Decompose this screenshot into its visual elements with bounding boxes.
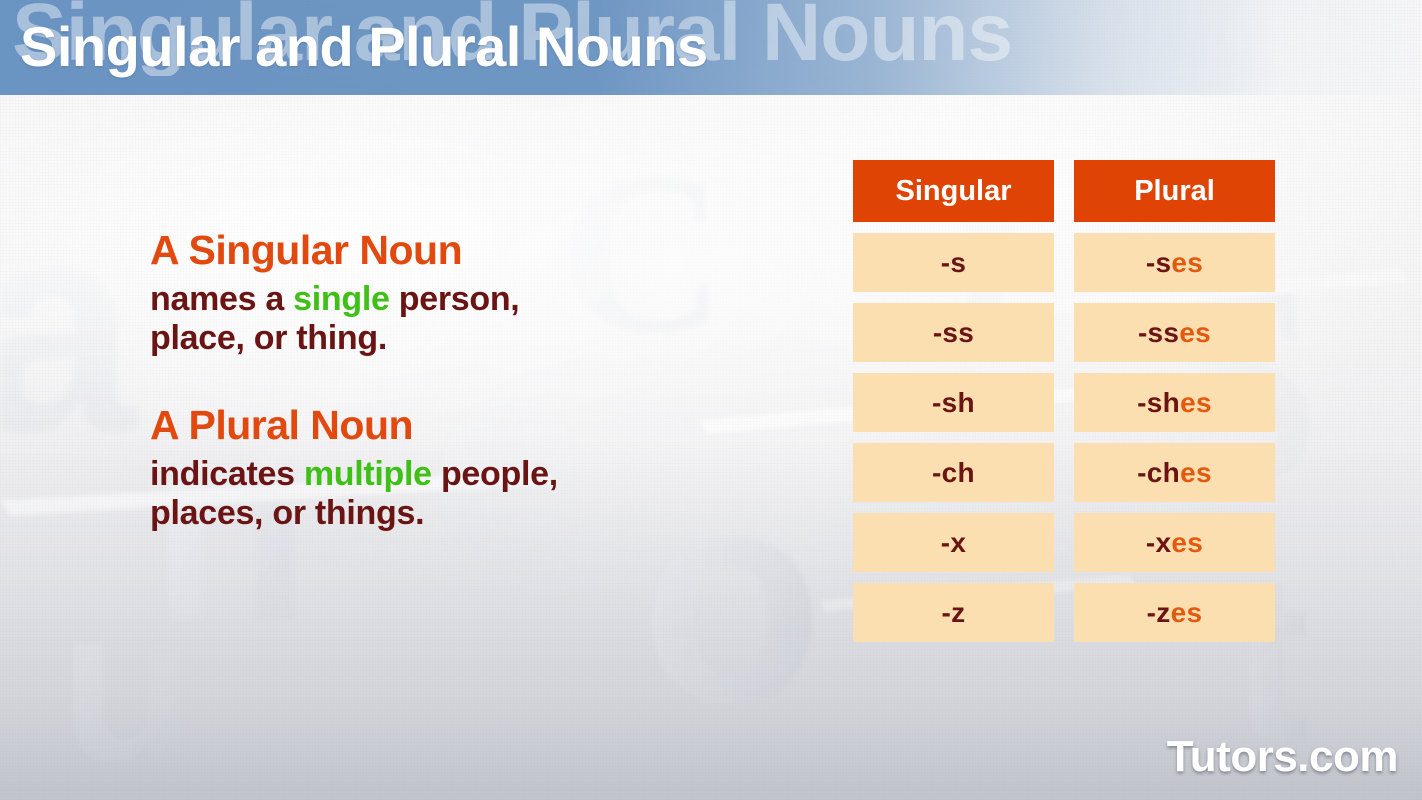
plural-highlight-word: multiple — [304, 455, 432, 493]
cell-singular: -ch — [853, 443, 1054, 502]
cell-plural: -ses — [1074, 233, 1275, 292]
tutors-logo[interactable]: Tutors.com — [1167, 732, 1398, 782]
cell-plural: -sses — [1074, 303, 1275, 362]
page-title: Singular and Plural Nouns — [20, 14, 708, 79]
singular-highlight-word: single — [293, 280, 389, 318]
plural-suffix: es — [1179, 317, 1211, 349]
table-row: -ch -ches — [853, 443, 1276, 502]
title-band: Singular and Plural Nouns Singular and P… — [0, 0, 1422, 95]
table-header-row: Singular Plural — [853, 160, 1276, 222]
svg-text:u: u — [60, 561, 194, 800]
plural-suffix: es — [1171, 597, 1203, 629]
table-row: -sh -shes — [853, 373, 1276, 432]
plural-suffix: es — [1171, 247, 1203, 279]
plural-stem: -s — [1146, 247, 1172, 279]
cell-plural: -shes — [1074, 373, 1275, 432]
cell-singular: -z — [853, 583, 1054, 642]
table-row: -ss -sses — [853, 303, 1276, 362]
svg-text:a: a — [0, 158, 139, 494]
plural-text-after: people, — [432, 455, 558, 493]
singular-definition-block: A Singular Noun names a single person, p… — [150, 228, 750, 359]
singular-definition-line-1: names a single person, — [150, 280, 750, 319]
plural-definition-line-2: places, or things. — [150, 494, 750, 533]
cell-singular: -sh — [853, 373, 1054, 432]
column-header-plural: Plural — [1074, 160, 1275, 222]
plural-definition-block: A Plural Noun indicates multiple people,… — [150, 403, 750, 534]
plural-suffix: es — [1171, 527, 1203, 559]
table-row: -s -ses — [853, 233, 1276, 292]
singular-heading: A Singular Noun — [150, 228, 750, 274]
table-row: -x -xes — [853, 513, 1276, 572]
cell-plural: -xes — [1074, 513, 1275, 572]
column-header-singular: Singular — [853, 160, 1054, 222]
plural-heading: A Plural Noun — [150, 403, 750, 449]
table-row: -z -zes — [853, 583, 1276, 642]
cell-singular: -x — [853, 513, 1054, 572]
plural-stem: -x — [1146, 527, 1172, 559]
singular-definition-line-2: place, or thing. — [150, 319, 750, 358]
singular-text-before: names a — [150, 280, 293, 318]
singular-text-after: person, — [390, 280, 520, 318]
plural-stem: -ch — [1137, 457, 1180, 489]
cell-singular: -ss — [853, 303, 1054, 362]
suffix-table: Singular Plural -s -ses -ss -sses -sh -s… — [853, 160, 1276, 642]
plural-definition-line-1: indicates multiple people, — [150, 455, 750, 494]
slide-canvas: a n e o C r S t u Singular and Plural No… — [0, 0, 1422, 800]
cell-singular: -s — [853, 233, 1054, 292]
plural-stem: -z — [1147, 597, 1171, 629]
cell-plural: -zes — [1074, 583, 1275, 642]
plural-stem: -sh — [1137, 387, 1180, 419]
plural-suffix: es — [1180, 387, 1212, 419]
plural-stem: -ss — [1138, 317, 1179, 349]
definitions-panel: A Singular Noun names a single person, p… — [150, 228, 750, 534]
plural-suffix: es — [1180, 457, 1212, 489]
plural-text-before: indicates — [150, 455, 304, 493]
cell-plural: -ches — [1074, 443, 1275, 502]
